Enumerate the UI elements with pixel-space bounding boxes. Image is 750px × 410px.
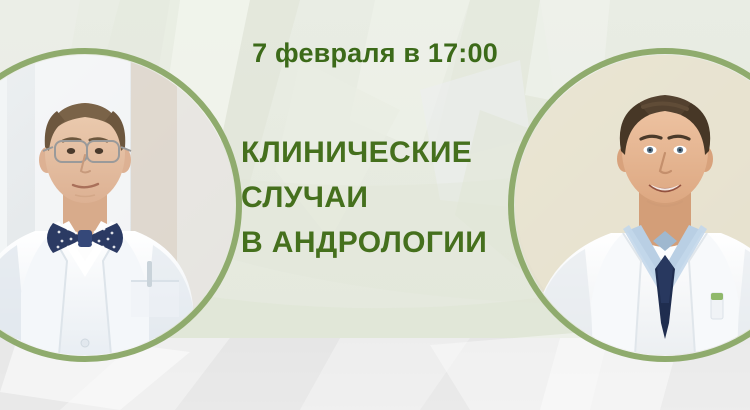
event-date: 7 февраля в 17:00 — [0, 38, 750, 69]
event-title: КЛИНИЧЕСКИЕ СЛУЧАИ В АНДРОЛОГИИ — [241, 130, 541, 265]
title-line-3: В АНДРОЛОГИИ — [241, 220, 541, 265]
title-line-1: КЛИНИЧЕСКИЕ — [241, 130, 541, 175]
webinar-banner: 7 февраля в 17:00 КЛИНИЧЕСКИЕ СЛУЧАИ В А… — [0, 0, 750, 410]
title-line-2: СЛУЧАИ — [241, 175, 541, 220]
